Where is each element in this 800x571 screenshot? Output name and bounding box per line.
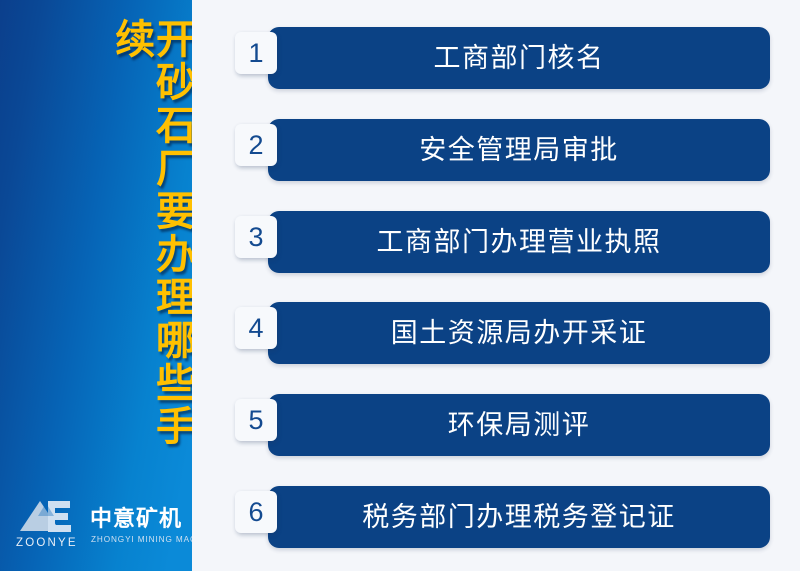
step-bar[interactable]: 工商部门核名 <box>268 27 770 89</box>
left-banner-panel: 开砂石厂要办理哪些手续 ZOONYE 中意矿机 ZHONGYI MINING M… <box>0 0 192 571</box>
step-number-badge: 2 <box>235 124 277 166</box>
step-label: 安全管理局审批 <box>419 137 619 164</box>
step-bar[interactable]: 工商部门办理营业执照 <box>268 211 770 273</box>
step-label: 国土资源局办开采证 <box>391 320 648 347</box>
step-number-badge: 6 <box>235 491 277 533</box>
list-item[interactable]: 4 国土资源局办开采证 <box>192 302 800 364</box>
step-bar[interactable]: 国土资源局办开采证 <box>268 302 770 364</box>
step-list: 1 工商部门核名 2 安全管理局审批 3 工商部门办理营业执照 4 <box>192 0 800 571</box>
step-number-badge: 1 <box>235 32 277 74</box>
step-number: 3 <box>248 224 263 251</box>
list-item[interactable]: 2 安全管理局审批 <box>192 119 800 181</box>
step-number: 4 <box>248 315 263 342</box>
step-bar[interactable]: 安全管理局审批 <box>268 119 770 181</box>
step-label: 环保局测评 <box>448 412 591 439</box>
list-item[interactable]: 1 工商部门核名 <box>192 27 800 89</box>
step-number-badge: 3 <box>235 216 277 258</box>
step-bar[interactable]: 环保局测评 <box>268 394 770 456</box>
list-item[interactable]: 5 环保局测评 <box>192 394 800 456</box>
list-item[interactable]: 6 税务部门办理税务登记证 <box>192 486 800 548</box>
infographic-root: 开砂石厂要办理哪些手续 ZOONYE 中意矿机 ZHONGYI MINING M… <box>0 0 800 571</box>
step-number: 5 <box>248 407 263 434</box>
step-number-badge: 5 <box>235 399 277 441</box>
step-number: 1 <box>248 40 263 67</box>
page-title: 开砂石厂要办理哪些手续 <box>0 18 192 470</box>
logo-english-tagline: ZHONGYI MINING MACHINE <box>91 535 192 544</box>
step-label: 税务部门办理税务登记证 <box>362 504 676 531</box>
logo-latin-wordmark: ZOONYE <box>16 537 86 549</box>
step-number: 2 <box>248 132 263 159</box>
brand-logo: ZOONYE 中意矿机 ZHONGYI MINING MACHINE <box>12 499 192 557</box>
step-bar[interactable]: 税务部门办理税务登记证 <box>268 486 770 548</box>
logo-chinese-wordmark: 中意矿机 <box>90 501 182 533</box>
step-label: 工商部门办理营业执照 <box>377 229 662 256</box>
step-number-badge: 4 <box>235 307 277 349</box>
step-label: 工商部门核名 <box>434 45 605 72</box>
step-number: 6 <box>248 499 263 526</box>
list-item[interactable]: 3 工商部门办理营业执照 <box>192 211 800 273</box>
zoonye-mountain-logo-icon <box>18 499 80 537</box>
